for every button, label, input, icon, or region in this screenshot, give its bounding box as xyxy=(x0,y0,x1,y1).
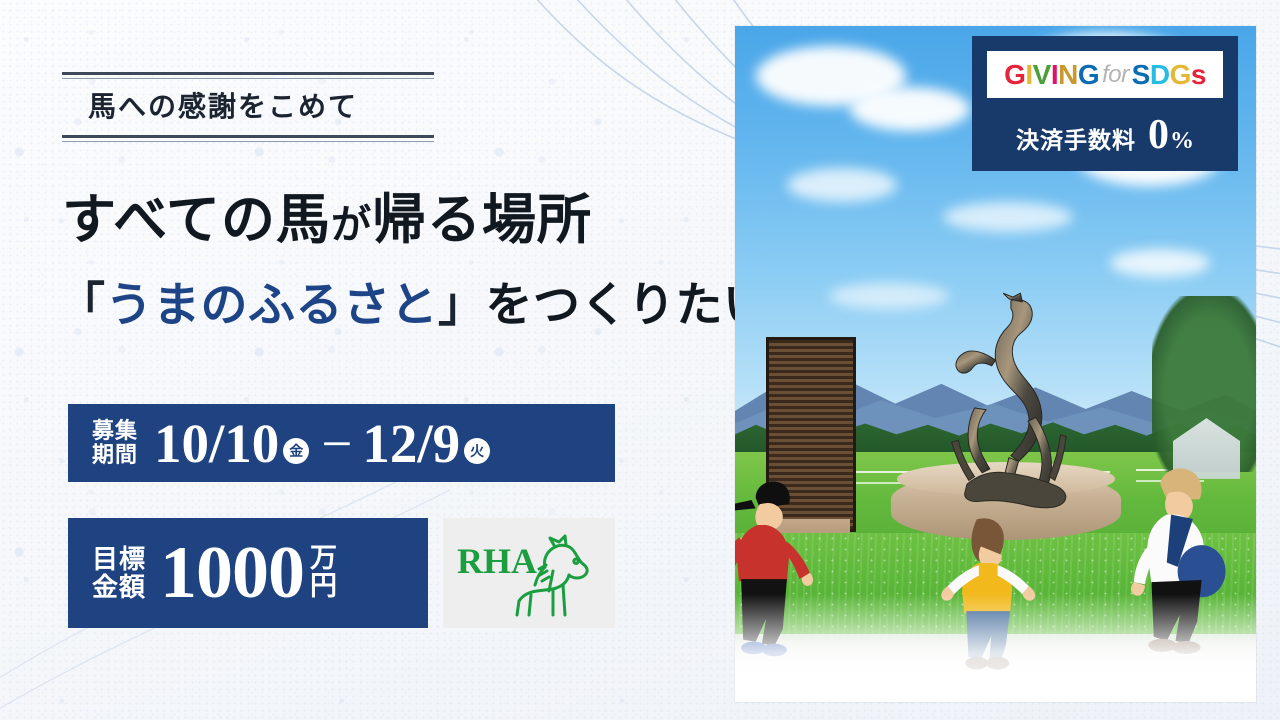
hero-photo-panel: GIVINGforSDGs 決済手数料 0 % xyxy=(735,26,1256,702)
eyebrow-rule-bottom-thin xyxy=(62,141,434,142)
sdgs-letter: G xyxy=(1078,59,1099,91)
sdgs-letter: V xyxy=(1033,59,1051,91)
period-end-day-chip: 火 xyxy=(464,438,490,464)
headline-line-1: すべての馬が帰る場所 xyxy=(62,192,592,249)
sdgs-letter: D xyxy=(1150,59,1170,91)
cloud-shape xyxy=(787,168,897,202)
eyebrow-rule-top xyxy=(62,72,434,75)
rha-logo: RHA xyxy=(449,525,609,621)
period-label: 募集 期間 xyxy=(92,419,138,467)
period-label-line2: 期間 xyxy=(92,443,138,467)
eyebrow-rule-bottom xyxy=(62,135,434,138)
eyebrow-block: 馬への感謝をこめて xyxy=(62,72,434,142)
photo-bottom-fade xyxy=(735,594,1256,702)
cloud-shape xyxy=(1110,249,1210,277)
period-end-date: 12/9 xyxy=(362,416,460,471)
giving-for-sdgs-logo: GIVINGforSDGs xyxy=(987,51,1223,98)
fee-label: 決済手数料 xyxy=(1016,121,1136,155)
headline-line2-tail: をつくりたい xyxy=(486,280,771,332)
fee-unit: % xyxy=(1170,128,1194,155)
headline-line1-main: すべての馬 xyxy=(62,190,331,250)
rha-logo-text: RHA xyxy=(457,541,537,581)
horse-statue xyxy=(923,229,1095,513)
headline-line1-particle: が xyxy=(331,202,372,247)
sdgs-logo-sdgs: SDGs xyxy=(1132,59,1206,91)
poster-canvas: 馬への感謝をこめて すべての馬が帰る場所 「うまのふるさと」をつくりたい 募集 … xyxy=(0,0,1280,720)
period-label-line1: 募集 xyxy=(92,419,138,443)
quote-open: 「 xyxy=(58,280,106,332)
fee-value: 0 xyxy=(1148,114,1169,156)
goal-amount-badge: 目標 金額 1000 万 円 xyxy=(68,518,428,628)
sdgs-badge: GIVINGforSDGs 決済手数料 0 % xyxy=(972,36,1238,171)
goal-label-line1: 目標 xyxy=(92,545,146,573)
period-separator: − xyxy=(321,416,352,471)
sdgs-logo-giving: GIVING xyxy=(1004,59,1099,91)
goal-unit-line1: 万 xyxy=(310,545,337,573)
sdgs-letter: I xyxy=(1051,59,1058,91)
cloud-shape xyxy=(850,87,970,131)
sdgs-logo-for: for xyxy=(1102,61,1129,89)
sdgs-letter: N xyxy=(1058,59,1078,91)
sdgs-letter: G xyxy=(1170,59,1191,91)
goal-label: 目標 金額 xyxy=(92,545,146,601)
goal-amount-value: 1000 xyxy=(160,536,304,610)
left-content-column: 馬への感謝をこめて すべての馬が帰る場所 「うまのふるさと」をつくりたい 募集 … xyxy=(0,0,735,720)
sdgs-letter: S xyxy=(1132,59,1150,91)
headline-line-2: 「うまのふるさと」をつくりたい xyxy=(58,282,771,332)
cloud-shape xyxy=(943,202,1073,232)
sdgs-letter: G xyxy=(1004,59,1025,91)
rha-logo-card: RHA xyxy=(443,518,615,628)
eyebrow-text: 馬への感謝をこめて xyxy=(62,79,434,136)
goal-label-line2: 金額 xyxy=(92,573,146,601)
period-start-date: 10/10 xyxy=(154,416,279,471)
goal-unit-line2: 円 xyxy=(310,573,337,601)
application-period-badge: 募集 期間 10/10 金 − 12/9 火 xyxy=(68,404,615,482)
sdgs-letter: I xyxy=(1025,59,1032,91)
sdgs-letter: s xyxy=(1191,59,1206,91)
headline-line1-tail: 帰る場所 xyxy=(372,190,592,250)
period-value: 10/10 金 − 12/9 火 xyxy=(154,416,492,471)
quote-close: 」 xyxy=(438,280,486,332)
goal-amount-unit: 万 円 xyxy=(310,545,337,600)
period-start-day-chip: 金 xyxy=(283,438,309,464)
headline-line2-accent: うまのふるさと xyxy=(106,280,439,332)
payment-fee-line: 決済手数料 0 % xyxy=(1016,114,1194,156)
